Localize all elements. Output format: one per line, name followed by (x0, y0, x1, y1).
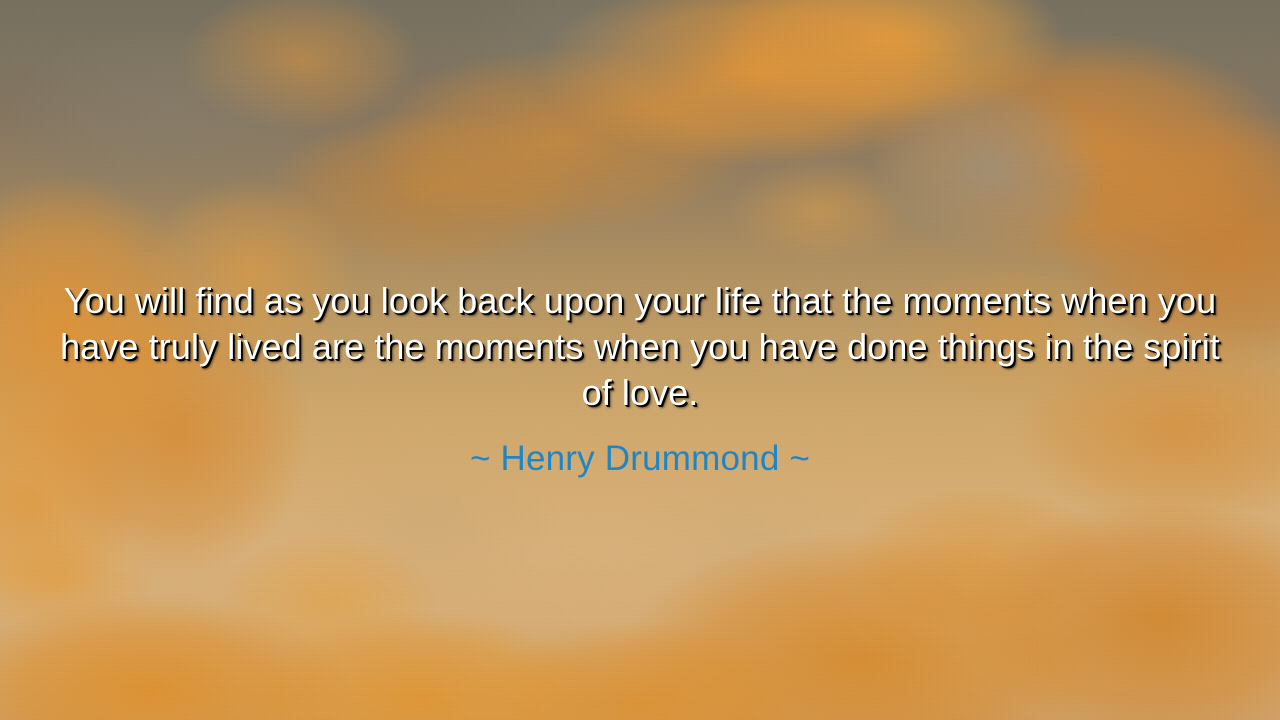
quote-attribution: ~ Henry Drummond ~ (50, 438, 1230, 480)
quote-block: You will find as you look back upon your… (50, 278, 1230, 480)
quote-wallpaper: You will find as you look back upon your… (0, 0, 1280, 720)
quote-text: You will find as you look back upon your… (50, 278, 1230, 416)
